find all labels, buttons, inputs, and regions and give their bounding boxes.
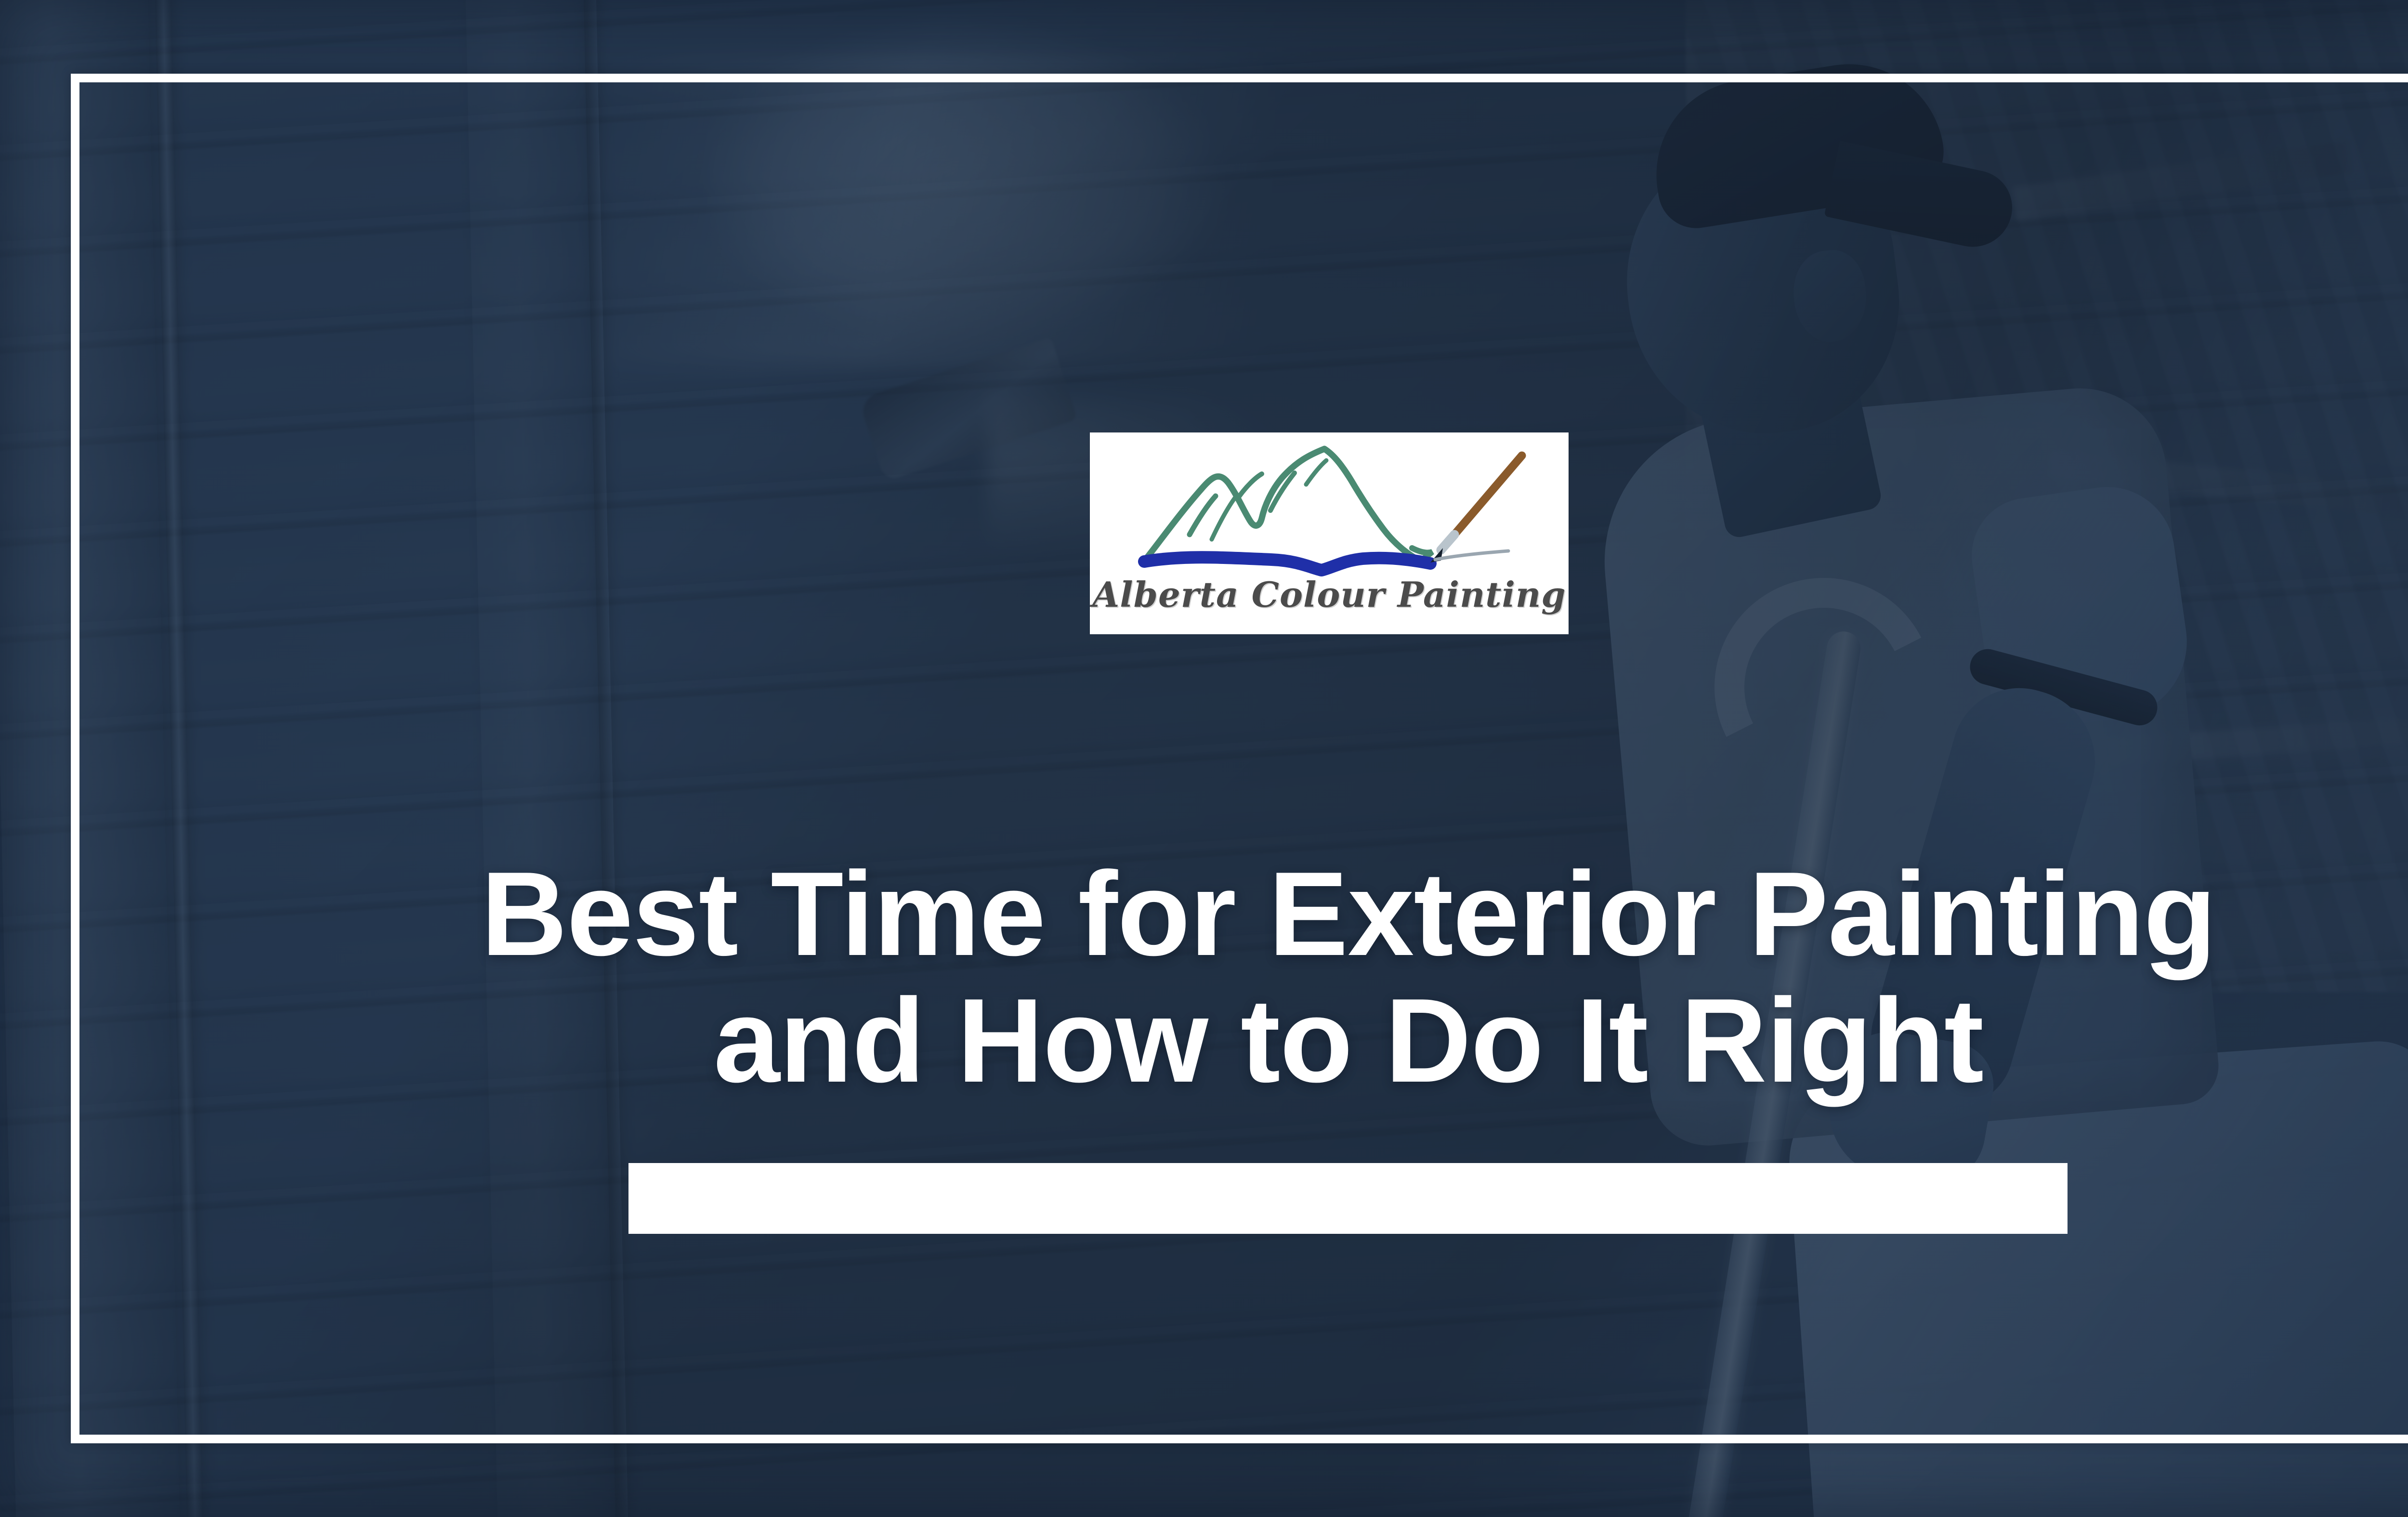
page-title: Best Time for Exterior Painting and How … (0, 850, 2408, 1104)
cta-bar[interactable] (628, 1163, 2068, 1234)
page-title-line-2: and How to Do It Right (58, 977, 2408, 1104)
banner-content: Alberta Colour Painting Best Time for Ex… (0, 0, 2408, 1517)
featured-image-banner: Alberta Colour Painting Best Time for Ex… (0, 0, 2408, 1517)
mountain-lake-paintbrush-logo (1117, 438, 1541, 578)
brand-logo-card[interactable]: Alberta Colour Painting (1090, 432, 1569, 634)
page-title-line-1: Best Time for Exterior Painting (58, 850, 2408, 977)
brand-wordmark: Alberta Colour Painting (1092, 574, 1566, 615)
